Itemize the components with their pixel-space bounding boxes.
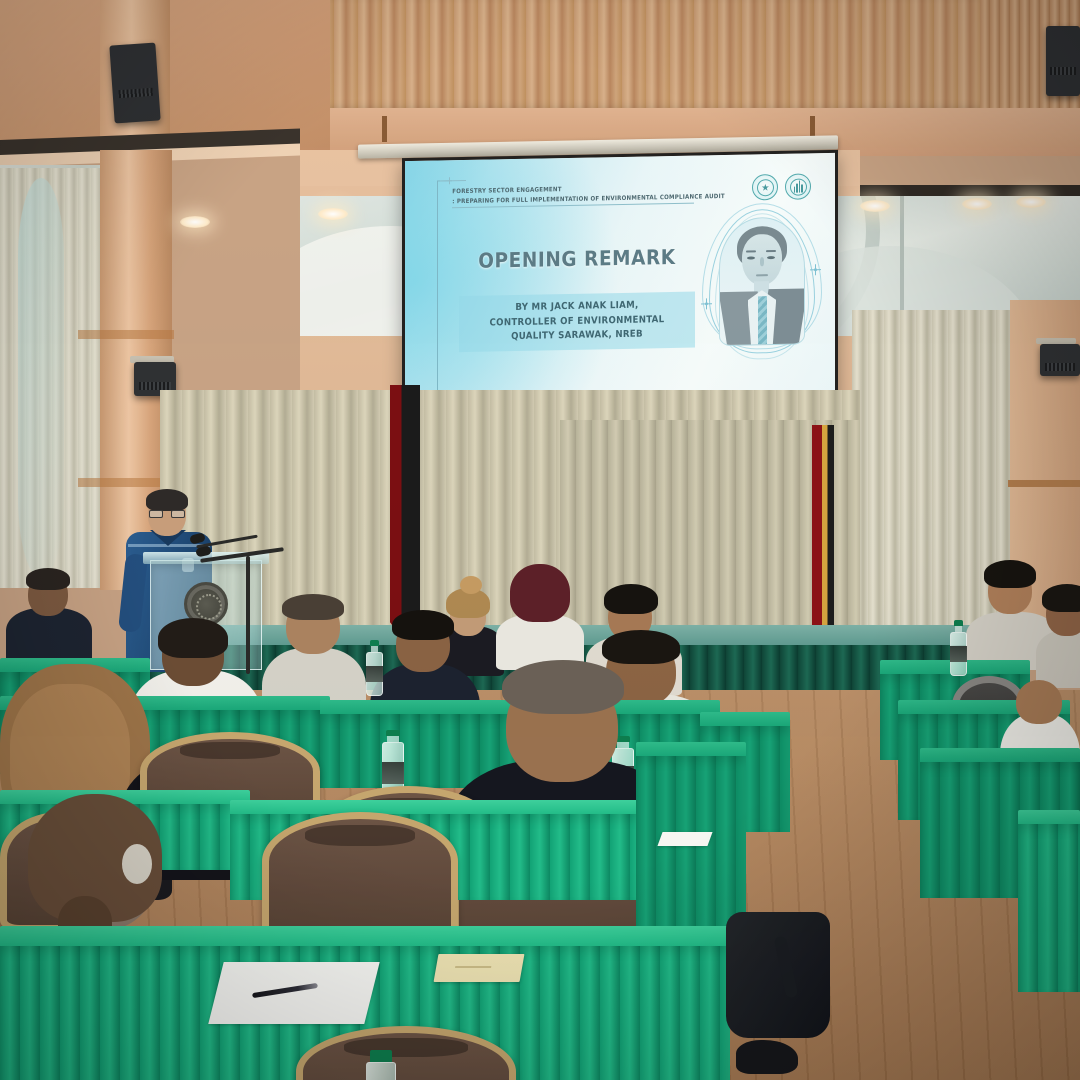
speaker-wall-right	[1040, 344, 1080, 376]
attendee-hair-bun	[460, 576, 482, 594]
paper-sheet-foreground	[208, 962, 379, 1024]
water-bottle	[950, 620, 967, 676]
slide-logo-group: ★	[752, 173, 811, 200]
downlight	[860, 200, 890, 212]
table-skirt	[1018, 824, 1080, 992]
portrait-accent-dot	[705, 302, 708, 305]
attendee-hair	[282, 594, 344, 620]
chair	[296, 1026, 516, 1080]
attendee-hair	[604, 584, 658, 614]
portrait-necktie	[758, 296, 767, 344]
speaker-portrait	[719, 217, 805, 347]
speaker-grill	[1045, 363, 1075, 371]
slide-title: OPENING REMARK	[452, 244, 701, 273]
table-row-right-4	[1018, 810, 1080, 990]
curtain-sheen	[18, 178, 64, 578]
attendee-torso	[6, 608, 92, 664]
shoe	[736, 1040, 798, 1074]
presenter-hair	[146, 489, 188, 511]
notepad	[434, 954, 525, 982]
wall-trim-right	[1008, 480, 1080, 487]
downlight	[180, 216, 210, 228]
attendee-hair-tie	[122, 844, 152, 884]
chair	[262, 812, 458, 942]
attendee-hair	[510, 564, 570, 622]
bottle-label	[382, 762, 404, 784]
wood-slat-ceiling	[310, 0, 1080, 115]
attendee-hair	[1042, 584, 1080, 612]
attendee-hair	[502, 660, 624, 714]
chair-back-cutout	[305, 825, 415, 846]
backpack-on-floor	[726, 912, 830, 1038]
downlight	[962, 198, 992, 210]
chair-back-cutout	[180, 742, 281, 759]
paper-sheet-on-table	[657, 832, 712, 846]
agency-circular-logo	[785, 173, 811, 199]
portrait-brow	[746, 250, 756, 252]
bottle-label	[950, 646, 967, 662]
attendee-far-right-edge	[1036, 586, 1080, 686]
attendee-hair	[158, 618, 228, 658]
portrait-eye	[747, 256, 755, 259]
presenter-eyeglasses	[149, 510, 185, 518]
attendee-hair	[602, 630, 680, 664]
bottle-label	[366, 666, 383, 682]
bottle-cap	[370, 1050, 392, 1062]
water-bottle-foreground	[366, 1050, 396, 1080]
downlight	[318, 208, 348, 220]
nreb-seal-inner: ★	[757, 179, 774, 196]
downlight	[1016, 196, 1046, 208]
stage-flag-left	[390, 385, 420, 640]
stage-flag-right	[812, 425, 834, 640]
attendee-hair	[984, 560, 1036, 588]
speaker-grill	[118, 88, 153, 98]
speaker-grill	[139, 382, 171, 390]
speaker-top-right	[1046, 26, 1080, 96]
table-top	[0, 926, 730, 948]
conference-hall-photo: FORESTRY SECTOR ENGAGEMENT : PREPARING F…	[0, 0, 1080, 1080]
portrait-mouth	[756, 274, 768, 276]
logo-bars	[794, 181, 803, 193]
bottle-body	[366, 1062, 396, 1080]
attendee-man-back-left	[6, 568, 92, 660]
attendee-hair	[392, 610, 454, 640]
speaker-grill	[1050, 67, 1076, 75]
screen-hanger	[382, 116, 387, 142]
speaker-top-left	[109, 42, 160, 123]
portrait-brow	[766, 250, 776, 252]
attendee-hair	[26, 568, 70, 590]
portrait-frame	[719, 217, 805, 347]
water-bottle	[366, 640, 383, 696]
slide-subtitle-box: BY MR JACK ANAK LIAM, CONTROLLER OF ENVI…	[459, 292, 696, 353]
portrait-eye	[767, 256, 775, 259]
portrait-accent-dot	[814, 268, 817, 271]
agency-logo-inner	[790, 178, 807, 195]
nreb-seal-logo: ★	[752, 174, 778, 200]
attendee-head	[1016, 680, 1062, 724]
pillar-band	[78, 330, 174, 339]
backpack-strap	[774, 935, 799, 998]
chair-back-cutout	[344, 1038, 467, 1057]
